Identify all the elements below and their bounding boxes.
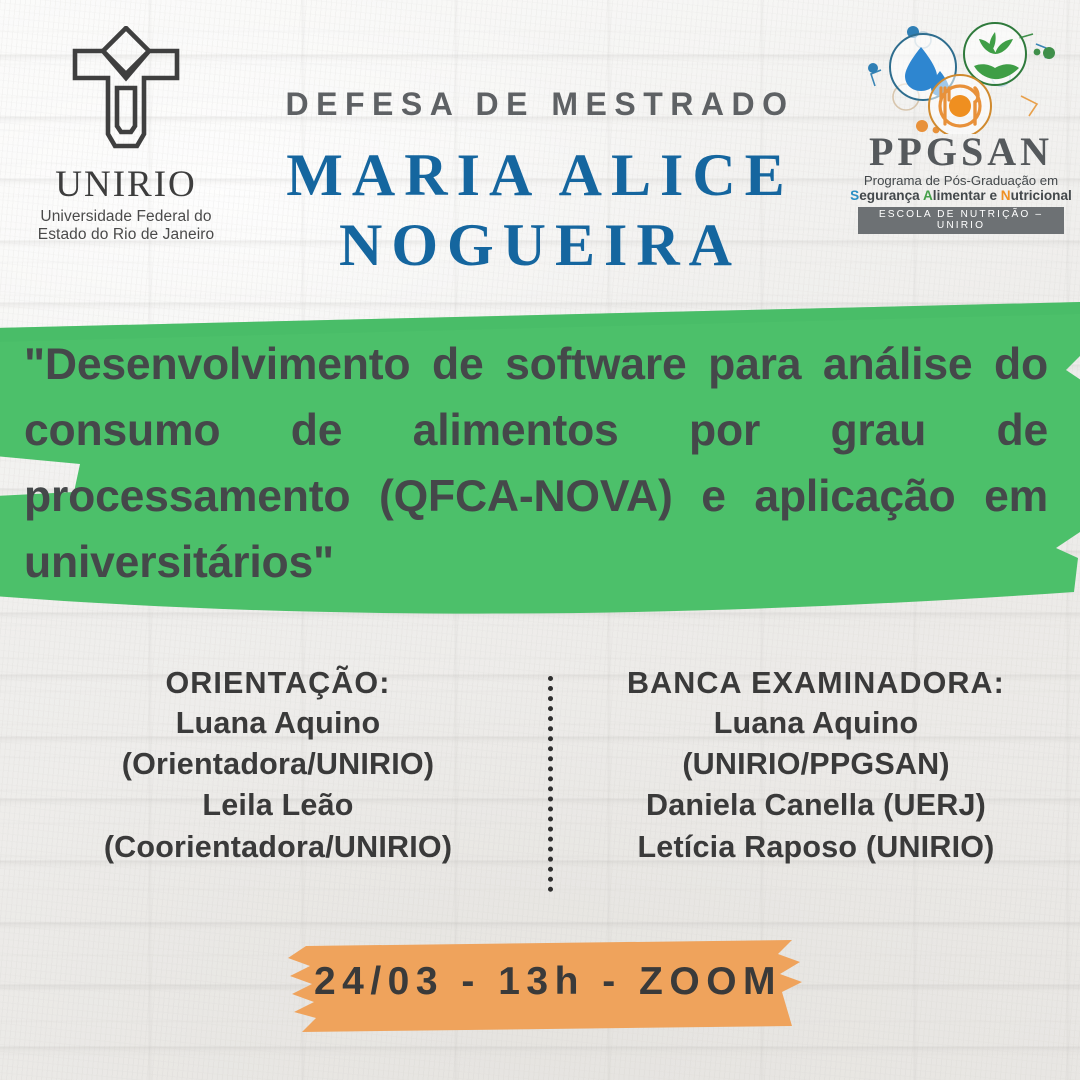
dot-green-1 xyxy=(1043,47,1055,59)
committee-heading: BANCA EXAMINADORA: xyxy=(566,664,1066,703)
committee-panel: BANCA EXAMINADORA: Luana Aquino (UNIRIO/… xyxy=(566,664,1066,868)
student-name-line2: NOGUEIRA xyxy=(180,210,900,280)
advisor-line: Leila Leão xyxy=(28,785,528,826)
committee-member-line: (UNIRIO/PPGSAN) xyxy=(566,744,1066,785)
committee-member-line: Daniela Canella (UERJ) xyxy=(566,785,1066,826)
advisor-line: Luana Aquino xyxy=(28,703,528,744)
committee-member-line: Letícia Raposo (UNIRIO) xyxy=(566,827,1066,868)
event-date-text: 24/03 - 13h - ZOOM xyxy=(272,960,824,1004)
committee-section: ORIENTAÇÃO: Luana Aquino (Orientadora/UN… xyxy=(0,664,1080,914)
page-kicker: DEFESA DE MESTRADO xyxy=(0,86,1080,123)
defense-announcement-poster: UNIRIO Universidade Federal do Estado do… xyxy=(0,0,1080,1080)
thesis-banner: "Desenvolvimento de software para anális… xyxy=(0,296,1080,626)
committee-member-line: Luana Aquino xyxy=(566,703,1066,744)
dot-blue-1 xyxy=(868,63,878,73)
advisor-line: (Coorientadora/UNIRIO) xyxy=(28,827,528,868)
plant-hand-icon xyxy=(964,23,1026,85)
thesis-title: "Desenvolvimento de software para anális… xyxy=(24,332,1048,595)
advisors-panel: ORIENTAÇÃO: Luana Aquino (Orientadora/UN… xyxy=(28,664,528,868)
student-name-line1: MARIA ALICE xyxy=(180,140,900,210)
column-divider xyxy=(548,676,553,892)
advisor-line: (Orientadora/UNIRIO) xyxy=(28,744,528,785)
event-date-ribbon: 24/03 - 13h - ZOOM xyxy=(272,932,824,1036)
dot-green-2 xyxy=(1034,49,1041,56)
page-title: MARIA ALICE NOGUEIRA xyxy=(180,140,900,280)
advisors-heading: ORIENTAÇÃO: xyxy=(28,664,528,703)
